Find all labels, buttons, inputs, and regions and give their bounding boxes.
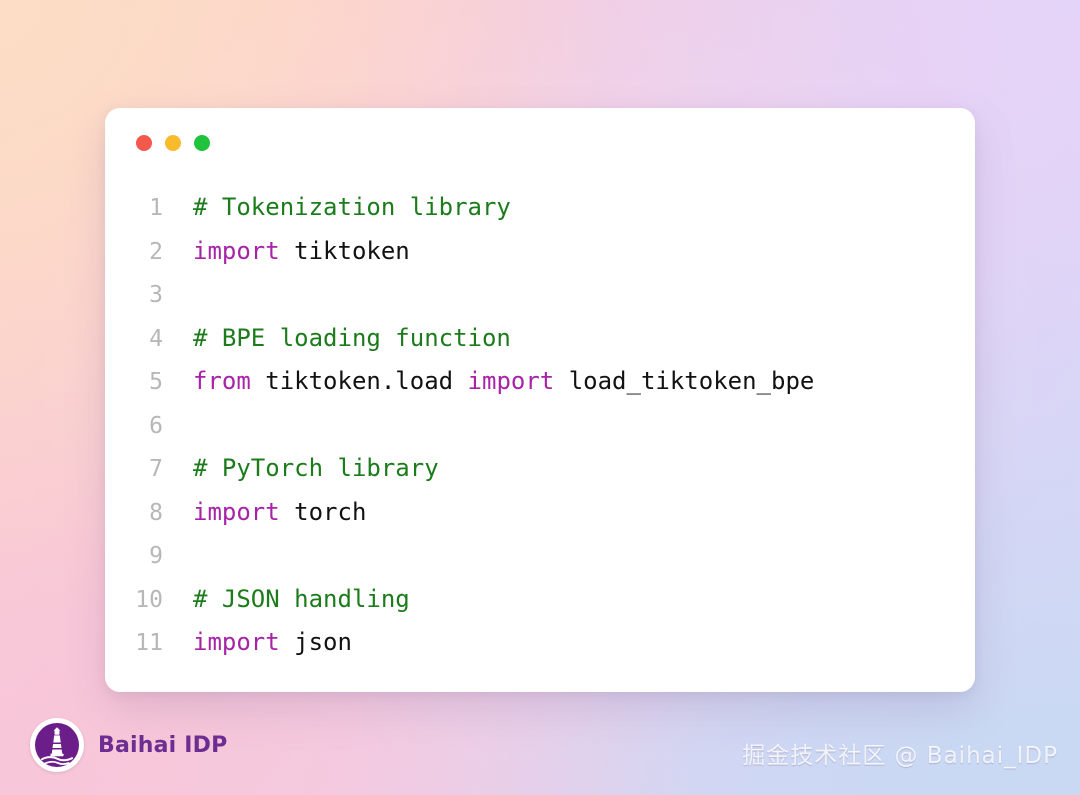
token-keyword: from <box>193 367 251 395</box>
code-line: 9 <box>105 534 975 578</box>
code-line-text: # BPE loading function <box>163 317 511 361</box>
code-editor-area[interactable]: 1# Tokenization library2import tiktoken3… <box>105 186 975 665</box>
token-keyword: import <box>193 498 280 526</box>
line-number: 7 <box>105 448 163 492</box>
code-line-text: # Tokenization library <box>163 186 511 230</box>
close-button[interactable] <box>136 135 152 151</box>
code-window-card: 1# Tokenization library2import tiktoken3… <box>105 108 975 692</box>
code-line-text: import tiktoken <box>163 230 410 274</box>
code-line-text <box>163 404 207 448</box>
token-comment: # Tokenization library <box>193 193 511 221</box>
maximize-button[interactable] <box>194 135 210 151</box>
line-number: 1 <box>105 187 163 231</box>
code-line: 4# BPE loading function <box>105 317 975 361</box>
code-line: 11import json <box>105 621 975 665</box>
code-line: 7# PyTorch library <box>105 447 975 491</box>
code-line-text <box>163 534 207 578</box>
code-line-text: # PyTorch library <box>163 447 439 491</box>
code-line: 6 <box>105 404 975 448</box>
line-number: 5 <box>105 361 163 405</box>
code-line-text <box>163 273 207 317</box>
brand-block: Baihai IDP <box>30 718 227 772</box>
window-titlebar <box>136 135 210 151</box>
token-plain: tiktoken <box>280 237 410 265</box>
line-number: 11 <box>105 622 163 666</box>
line-number: 4 <box>105 318 163 362</box>
token-plain: json <box>280 628 352 656</box>
token-plain: load_tiktoken_bpe <box>554 367 814 395</box>
line-number: 9 <box>105 535 163 579</box>
token-plain: tiktoken.load <box>251 367 468 395</box>
code-line-text: import json <box>163 621 352 665</box>
line-number: 8 <box>105 492 163 536</box>
line-number: 6 <box>105 405 163 449</box>
code-line: 8import torch <box>105 491 975 535</box>
code-line-text: # JSON handling <box>163 578 410 622</box>
code-line-text: import torch <box>163 491 366 535</box>
token-comment: # JSON handling <box>193 585 410 613</box>
line-number: 10 <box>105 579 163 623</box>
token-comment: # BPE loading function <box>193 324 511 352</box>
token-comment: # PyTorch library <box>193 454 439 482</box>
watermark-text: 掘金技术社区 @ Baihai_IDP <box>742 736 1058 770</box>
poster-canvas: 1# Tokenization library2import tiktoken3… <box>0 0 1080 795</box>
code-line: 3 <box>105 273 975 317</box>
line-number: 3 <box>105 274 163 318</box>
code-line: 5from tiktoken.load import load_tiktoken… <box>105 360 975 404</box>
token-keyword: import <box>193 237 280 265</box>
token-keyword: import <box>468 367 555 395</box>
lighthouse-icon <box>30 718 84 772</box>
code-line: 1# Tokenization library <box>105 186 975 230</box>
code-line: 2import tiktoken <box>105 230 975 274</box>
minimize-button[interactable] <box>165 135 181 151</box>
code-line-text: from tiktoken.load import load_tiktoken_… <box>163 360 814 404</box>
token-plain: torch <box>280 498 367 526</box>
brand-name: Baihai IDP <box>98 733 227 758</box>
token-keyword: import <box>193 628 280 656</box>
line-number: 2 <box>105 231 163 275</box>
code-line: 10# JSON handling <box>105 578 975 622</box>
